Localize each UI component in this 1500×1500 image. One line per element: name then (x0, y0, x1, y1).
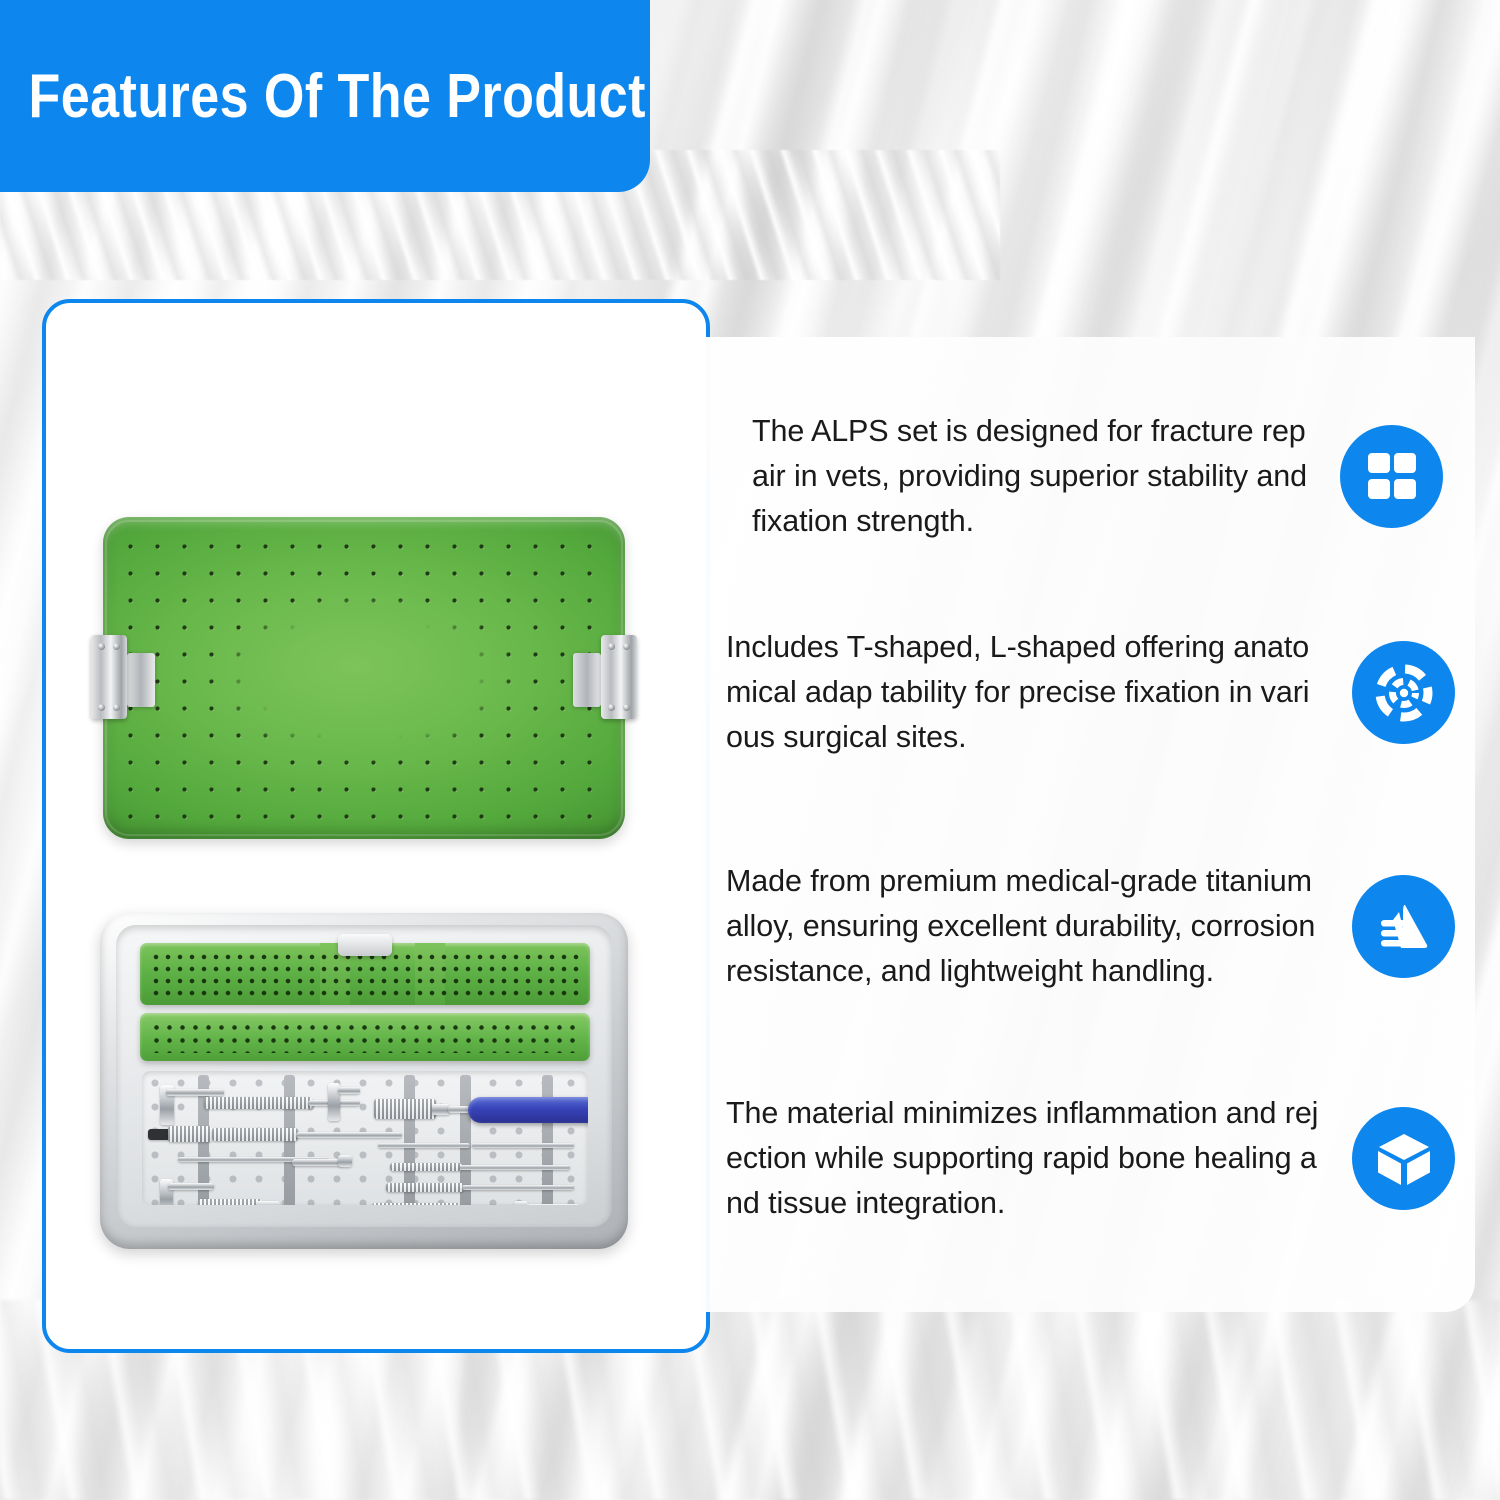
rack-handle (338, 934, 392, 956)
page-title: Features Of The Product (0, 61, 646, 132)
lid-perforations (117, 533, 611, 823)
sterilization-tray-lid (103, 517, 625, 839)
feature-text: The ALPS set is designed for fracture re… (726, 409, 1314, 544)
lid-latch-right (601, 635, 637, 719)
features-panel: The ALPS set is designed for fracture re… (700, 337, 1475, 1312)
feature-text: Includes T-shaped, L-shaped offering ana… (726, 625, 1326, 760)
target-icon (1352, 641, 1455, 744)
feature-row: Made from premium medical-grade titanium… (726, 859, 1456, 994)
feature-row: The ALPS set is designed for fracture re… (726, 409, 1456, 544)
lid-latch-tab-right (573, 653, 601, 707)
feature-text: Made from premium medical-grade titanium… (726, 859, 1326, 994)
instrument-bed (142, 1071, 588, 1205)
lid-latch-tab-left (127, 653, 155, 707)
screw-rack-upper (140, 943, 590, 1005)
product-image-card (42, 299, 710, 1353)
open-instrument-tray (100, 913, 628, 1249)
feature-text: The material minimizes inflammation and … (726, 1091, 1326, 1226)
cube-box-icon (1352, 1107, 1455, 1210)
grid-icon (1340, 425, 1443, 528)
infographic-page: Features Of The Product (0, 0, 1500, 1500)
screw-rack-lower (140, 1013, 590, 1061)
screwdriver-blue-handle (468, 1097, 588, 1123)
alloy-layers-icon (1352, 875, 1455, 978)
title-banner: Features Of The Product (0, 0, 650, 192)
feature-row: The material minimizes inflammation and … (726, 1091, 1456, 1226)
feature-row: Includes T-shaped, L-shaped offering ana… (726, 625, 1456, 760)
lid-latch-left (91, 635, 127, 719)
tray-inner (116, 925, 612, 1227)
